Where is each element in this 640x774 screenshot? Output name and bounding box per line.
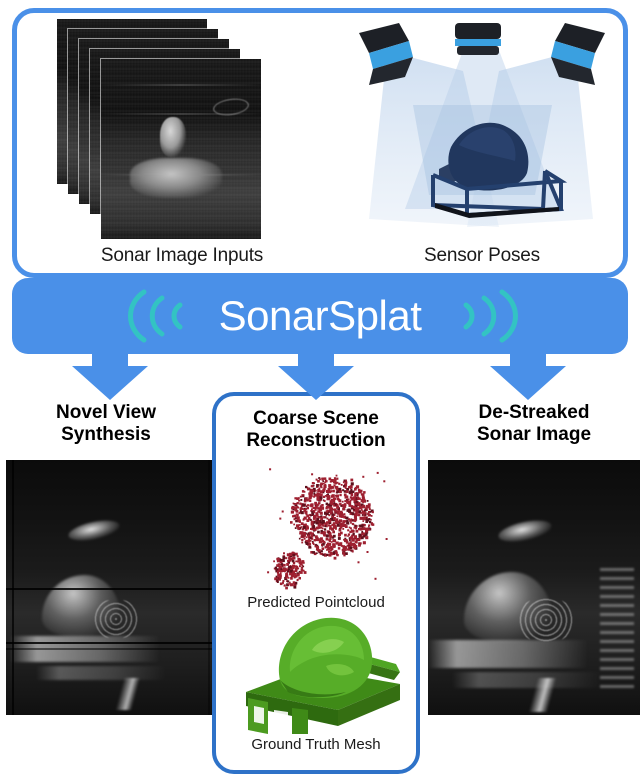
sonarsplat-banner: SonarSplat: [12, 278, 628, 354]
inputs-panel: Sonar Image Inputs: [12, 8, 628, 278]
banner-title: SonarSplat: [12, 292, 628, 340]
stacked-sonar-images: [57, 19, 327, 239]
de-streaked-sonar-image: [428, 460, 640, 715]
sonar-wave-right-icon: [444, 286, 522, 346]
sonar-image-inputs-caption: Sonar Image Inputs: [47, 245, 317, 267]
arrow-to-de-streaked: [480, 350, 576, 402]
mesh-caption: Ground Truth Mesh: [216, 736, 416, 753]
novel-view-heading: Novel View Synthesis: [0, 402, 212, 446]
sonar-sensor-left: [359, 23, 413, 85]
arrow-to-novel-view: [62, 350, 158, 402]
novel-view-synthesis-image: [6, 460, 216, 715]
sonar-sensor-center: [455, 23, 501, 55]
sonar-image-card: [101, 59, 261, 239]
predicted-pointcloud: [236, 458, 401, 593]
arrow-to-coarse-scene: [268, 350, 364, 402]
sonar-sensor-right: [551, 23, 605, 85]
ground-truth-mesh: [234, 606, 406, 734]
sensor-poses-caption: Sensor Poses: [357, 245, 607, 267]
sensor-poses-diagram: [347, 19, 617, 241]
de-streaked-heading: De-Streaked Sonar Image: [428, 402, 640, 446]
coarse-scene-panel: Coarse Scene Reconstruction Predicted Po…: [212, 392, 420, 774]
coarse-scene-heading: Coarse Scene Reconstruction: [216, 408, 416, 452]
